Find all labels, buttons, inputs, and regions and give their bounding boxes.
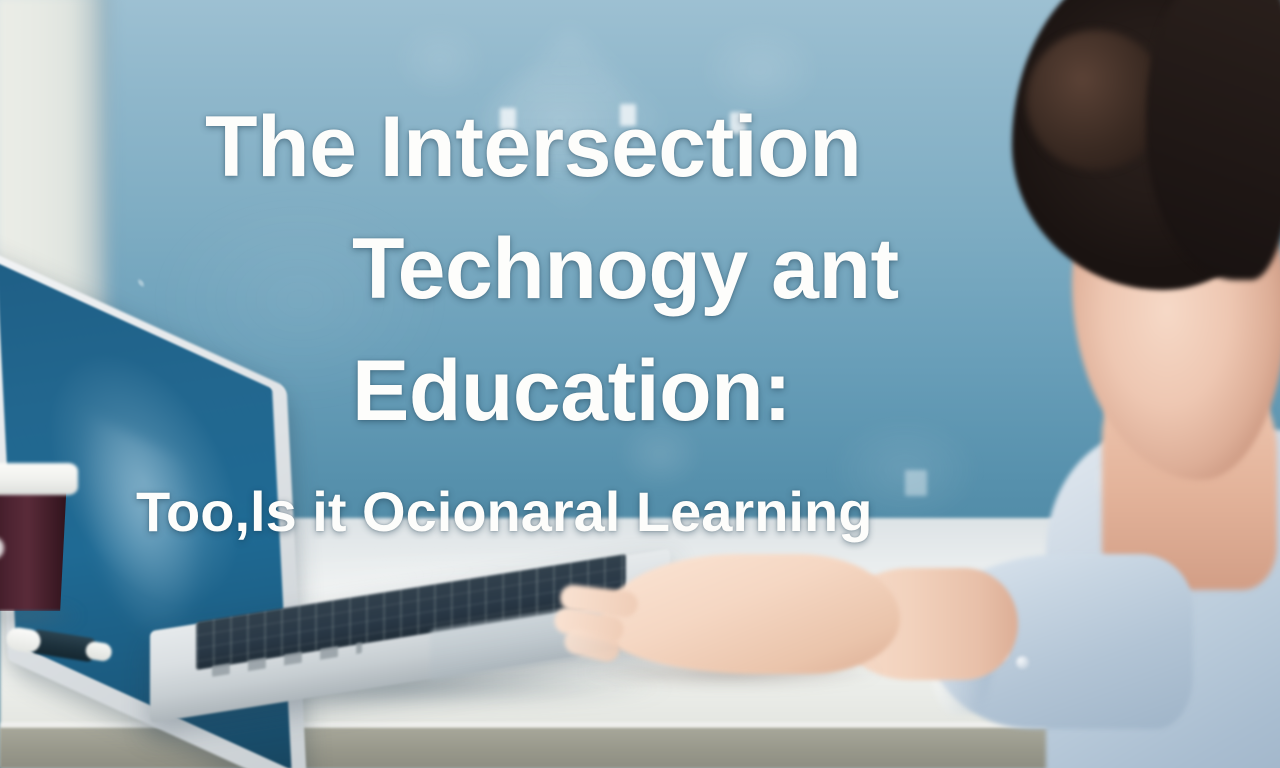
- chalk-tick-mark: [500, 108, 516, 130]
- cuff-button: [1016, 656, 1029, 669]
- webcam-icon: [138, 278, 144, 287]
- coffee-cup-lid: [0, 463, 78, 495]
- banner-image: The Intersection Technogy ant Education:…: [0, 0, 1280, 768]
- chalk-tick-mark: [620, 104, 636, 126]
- person-hand: [600, 554, 900, 674]
- person-hair-bun: [1026, 30, 1166, 170]
- chalk-tick-mark: [905, 470, 927, 496]
- person-arm: [760, 540, 1180, 720]
- chalk-tick-mark: [730, 112, 746, 134]
- coffee-cup: [0, 455, 83, 645]
- coffee-cup-body: [0, 483, 70, 611]
